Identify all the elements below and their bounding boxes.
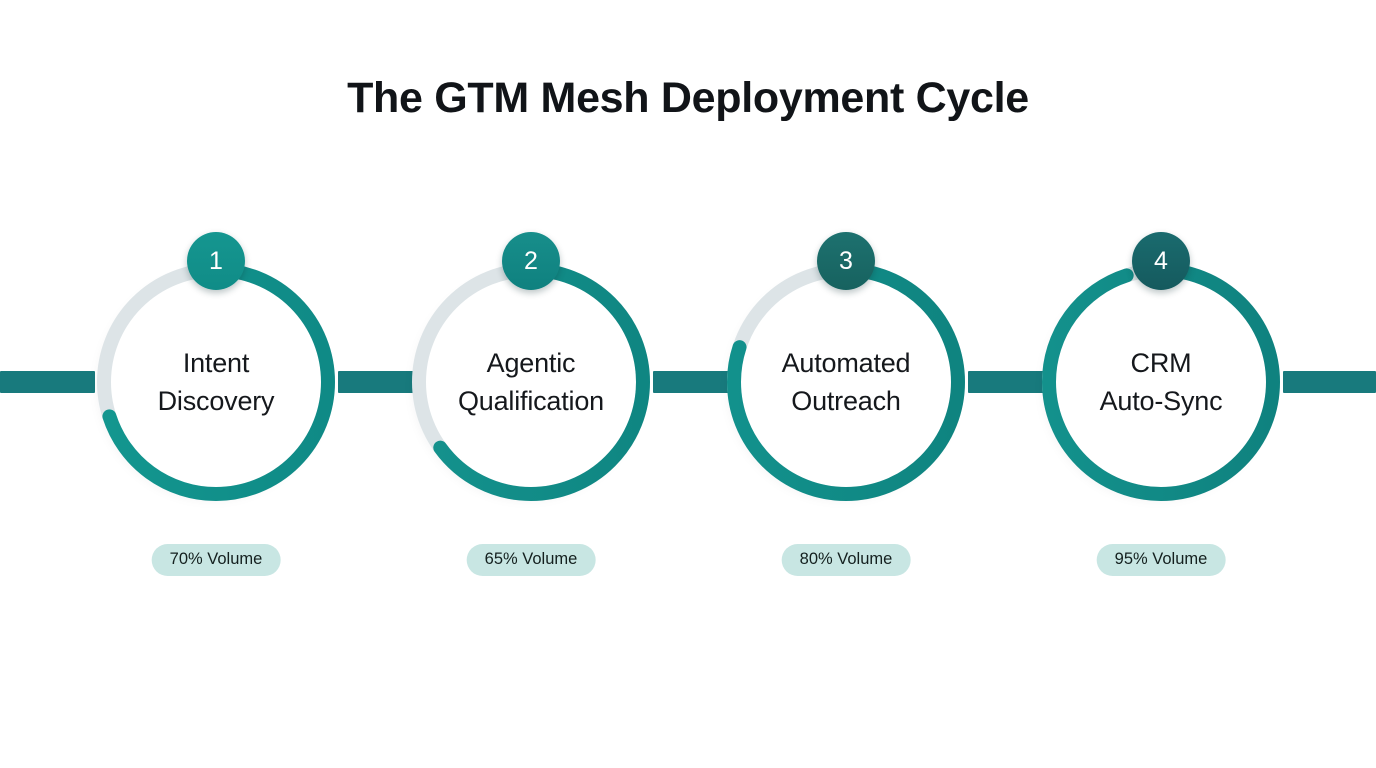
volume-pill-2: 65% Volume: [467, 544, 596, 576]
connector-rail-5: [1283, 371, 1376, 393]
volume-pill-4: 95% Volume: [1097, 544, 1226, 576]
step-4[interactable]: CRMAuto-Sync495% Volume: [1031, 232, 1291, 592]
step-1[interactable]: IntentDiscovery170% Volume: [86, 232, 346, 592]
step-3[interactable]: AutomatedOutreach380% Volume: [716, 232, 976, 592]
step-number-badge-1: 1: [187, 232, 245, 290]
progress-ring-2: [405, 256, 657, 508]
step-number-badge-3: 3: [817, 232, 875, 290]
page-title: The GTM Mesh Deployment Cycle: [0, 74, 1376, 123]
progress-ring-1: [90, 256, 342, 508]
volume-pill-1: 70% Volume: [152, 544, 281, 576]
diagram-canvas: The GTM Mesh Deployment Cycle IntentDisc…: [0, 0, 1376, 768]
progress-ring-4: [1035, 256, 1287, 508]
connector-rail-1: [0, 371, 95, 393]
progress-ring-3: [720, 256, 972, 508]
step-number-badge-4: 4: [1132, 232, 1190, 290]
volume-pill-3: 80% Volume: [782, 544, 911, 576]
step-2[interactable]: AgenticQualification265% Volume: [401, 232, 661, 592]
step-number-badge-2: 2: [502, 232, 560, 290]
